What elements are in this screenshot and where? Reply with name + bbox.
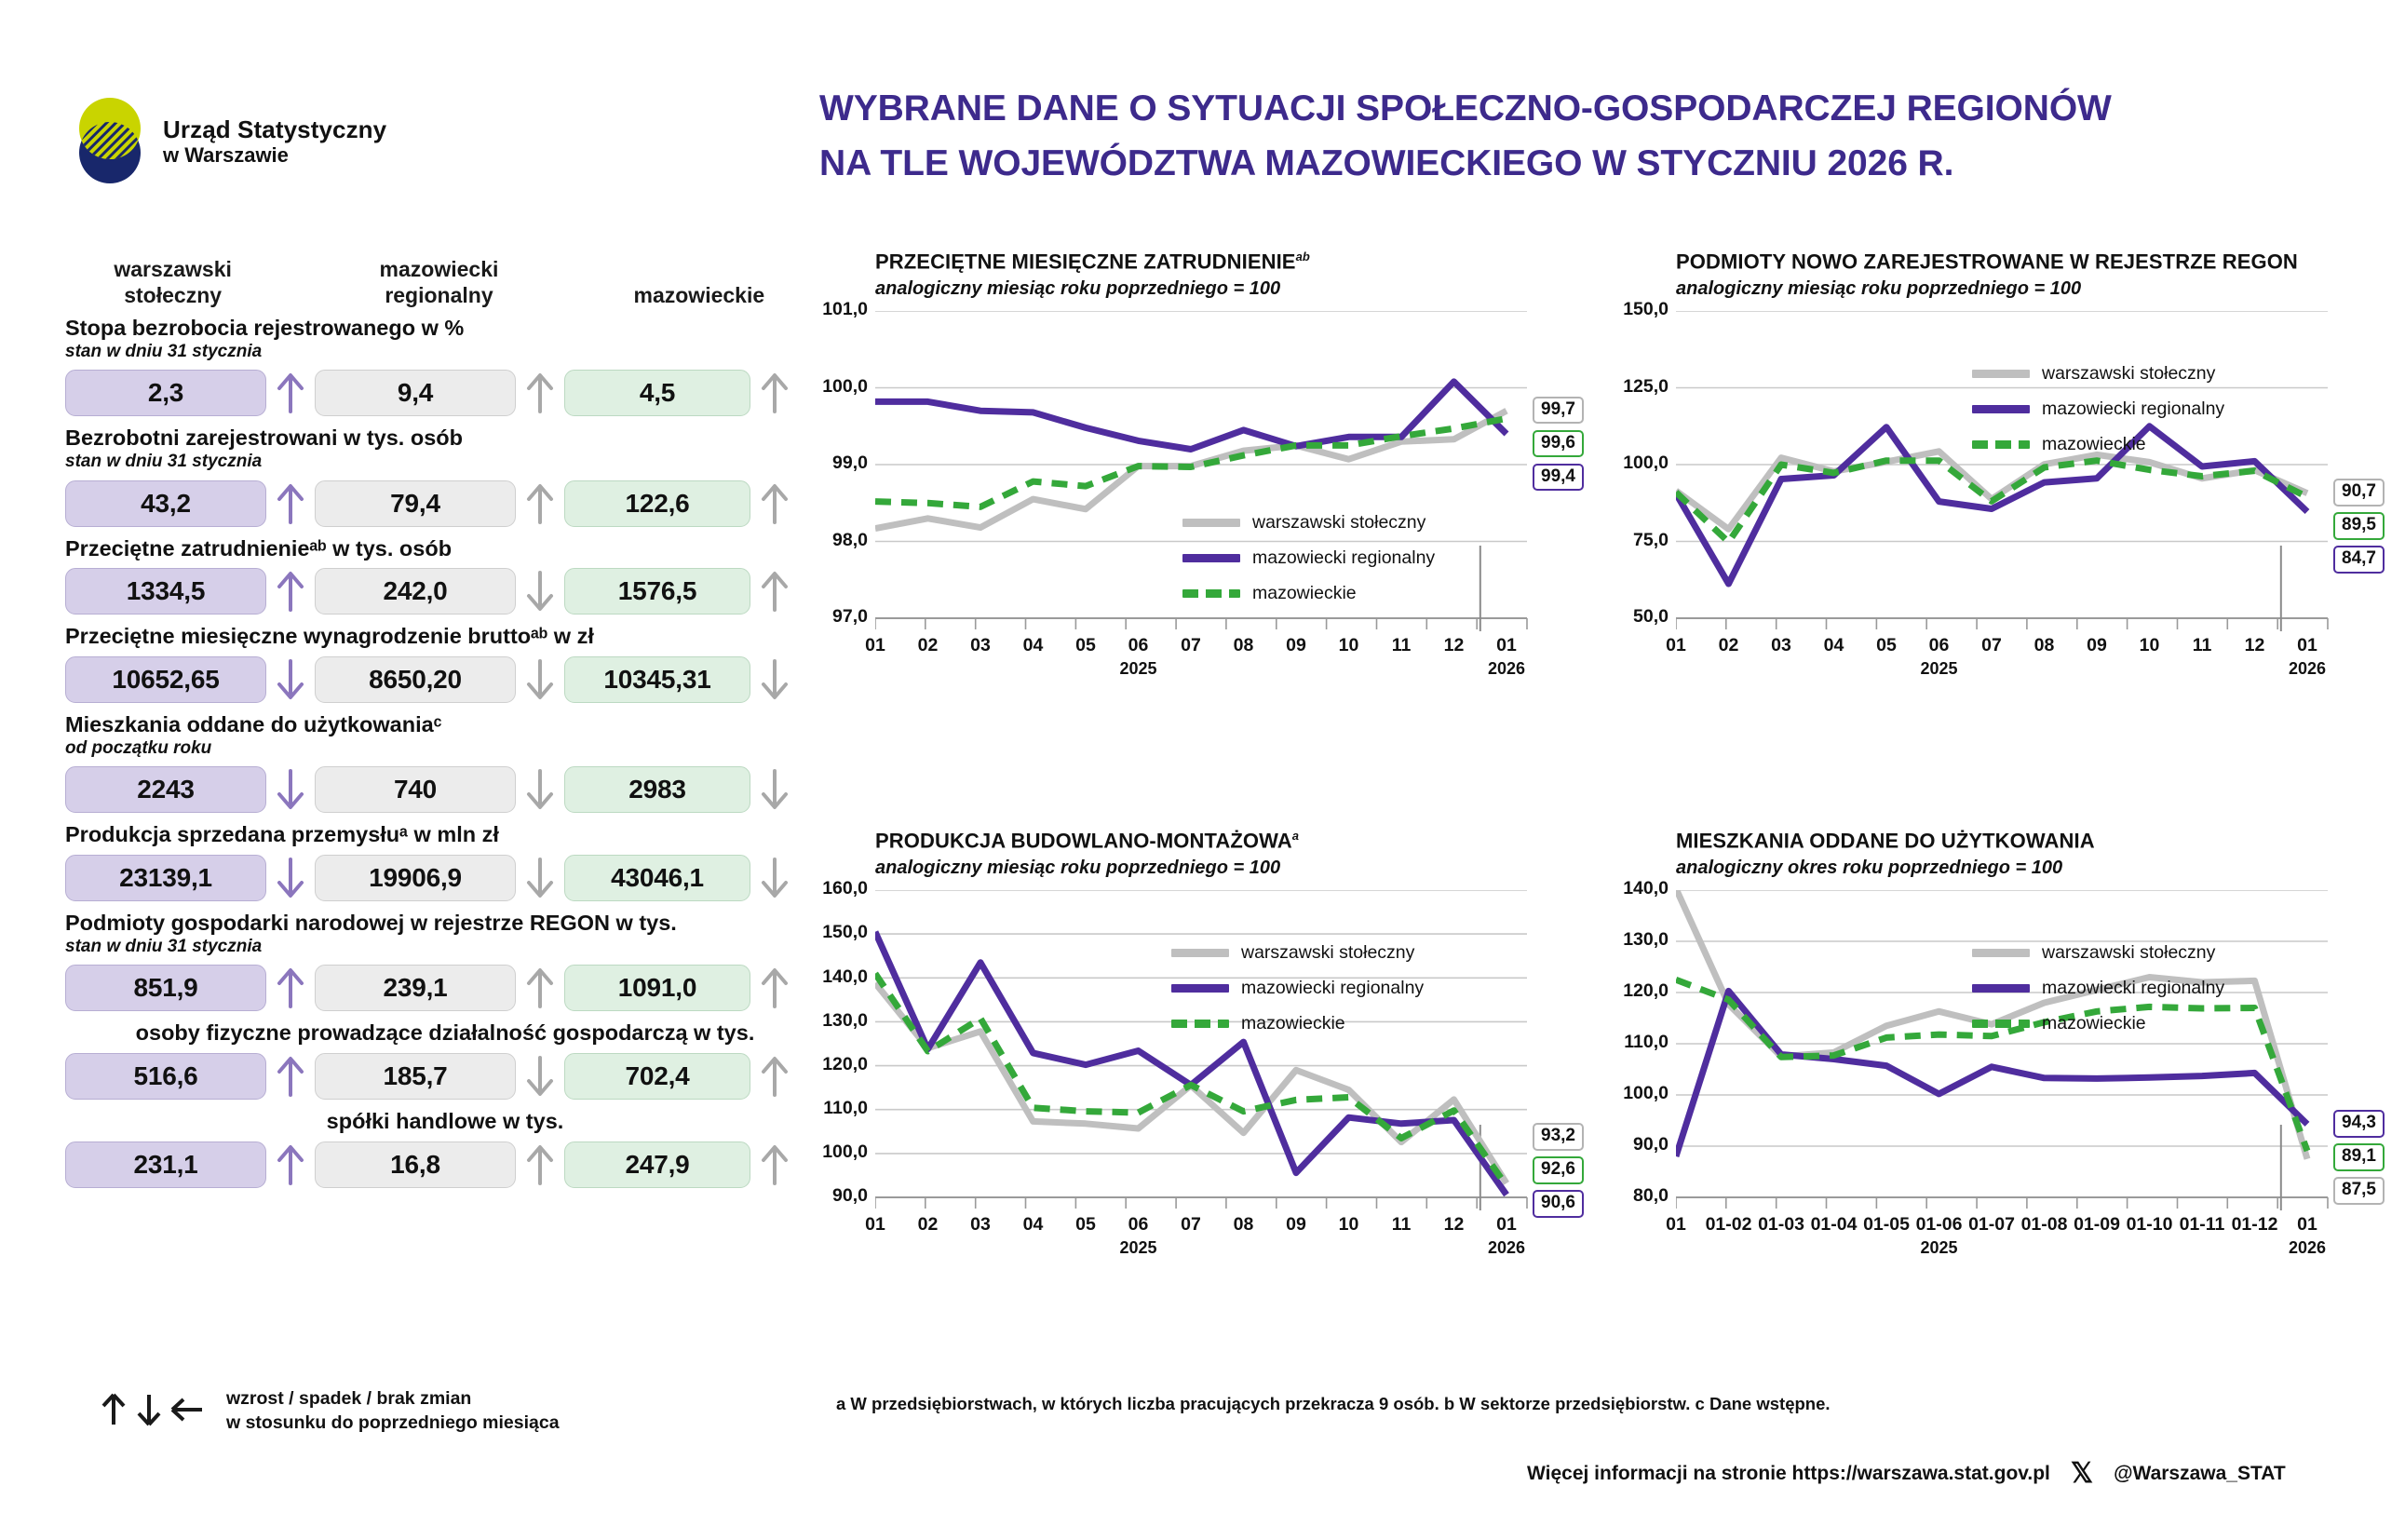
chart-budowlana: PRODUKCJA BUDOWLANO-MONTAŻOWAa analogicz… (875, 829, 1540, 1212)
row-title: Podmioty gospodarki narodowej w rejestrz… (65, 910, 801, 937)
arrow-up-icon (526, 1143, 554, 1186)
row-title: Mieszkania oddane do użytkowaniaᶜ (65, 711, 801, 738)
value-mazowiecki-regionalny: 740 (315, 766, 516, 813)
legend-swatch-violet (1972, 405, 2030, 413)
value-mazowieckie: 122,6 (564, 480, 750, 527)
legend-item: mazowiecki regionalny (1171, 970, 1424, 1006)
table-row: Przeciętne miesięczne wynagrodzenie brut… (65, 623, 801, 703)
chart-regon: PODMIOTY NOWO ZAREJESTROWANE W REJESTRZE… (1676, 250, 2341, 633)
arrow-down-icon (526, 1055, 554, 1098)
arrow-legend: wzrost / spadek / brak zmian w stosunku … (98, 1387, 560, 1435)
legend-label: mazowieckie (2042, 1013, 2146, 1034)
chart-title-superscript: a (1292, 829, 1299, 843)
value-mazowieckie: 1091,0 (564, 965, 750, 1011)
arrow-down-icon (277, 768, 304, 811)
table-row: Stopa bezrobocia rejestrowanego w %stan … (65, 315, 801, 416)
chart-title: PRODUKCJA BUDOWLANO-MONTAŻOWAa (875, 829, 1540, 853)
indicators-table: warszawski stołeczny mazowiecki regional… (65, 242, 801, 1196)
y-axis-tick: 150,0 (790, 922, 868, 943)
y-axis-tick: 140,0 (1590, 878, 1669, 899)
arrow-legend-line-1: wzrost / spadek / brak zmian (226, 1387, 560, 1412)
y-axis-tick: 101,0 (790, 299, 868, 320)
row-title: Przeciętne zatrudnienieᵃᵇ w tys. osób (65, 535, 801, 562)
y-axis-tick: 80,0 (1590, 1185, 1669, 1207)
row-title: Produkcja sprzedana przemysłuᵃ w mln zł (65, 821, 801, 848)
x-axis-tick: 01 (2265, 635, 2349, 656)
legend-swatch-green (1972, 440, 2030, 449)
row-values: 2243 740 2983 (65, 766, 801, 813)
chart-zatrudnienie: PRZECIĘTNE MIESIĘCZNE ZATRUDNIENIEab ana… (875, 250, 1540, 633)
value-mazowiecki-regionalny: 185,7 (315, 1053, 516, 1100)
arrow-up-icon (277, 570, 304, 613)
page-title-line-2: NA TLE WOJEWÓDZTWA MAZOWIECKIEGO W STYCZ… (819, 137, 2365, 192)
arrow-down-icon (526, 658, 554, 701)
value-warszawski: 231,1 (65, 1141, 266, 1188)
row-subtitle: stan w dniu 31 stycznia (65, 451, 801, 474)
series-end-value-label: 92,6 (1533, 1156, 1584, 1184)
row-values: 10652,65 8650,20 10345,31 (65, 656, 801, 703)
legend-item: mazowieckie (1972, 1006, 2224, 1041)
arrow-up-icon (761, 1055, 789, 1098)
arrow-up-icon (761, 570, 789, 613)
x-axis-year-left: 2025 (1902, 1238, 1977, 1258)
y-axis-tick: 120,0 (1590, 980, 1669, 1002)
arrow-up-icon (526, 966, 554, 1009)
y-axis-tick: 90,0 (1590, 1134, 1669, 1155)
trend-arrow-mazowiecki-regionalny (516, 857, 564, 899)
legend-swatch-violet (1972, 984, 2030, 993)
x-axis-year-right: 2026 (2270, 659, 2344, 679)
arrow-up-icon (526, 371, 554, 414)
value-mazowiecki-regionalny: 242,0 (315, 568, 516, 615)
y-axis-tick: 110,0 (790, 1098, 868, 1119)
value-warszawski: 851,9 (65, 965, 266, 1011)
trend-arrow-mazowiecki-regionalny (516, 482, 564, 525)
y-axis-tick: 150,0 (1590, 299, 1669, 320)
row-title: Stopa bezrobocia rejestrowanego w % (65, 315, 801, 342)
series-end-value-label: 87,5 (2333, 1177, 2385, 1205)
arrow-up-icon (761, 482, 789, 525)
y-axis-tick: 100,0 (1590, 1083, 1669, 1104)
legend-item: mazowieckie (1972, 426, 2224, 462)
chart-plot: 80,090,0100,0110,0120,0130,0140,00101-02… (1676, 890, 2341, 1212)
legend-swatch-violet (1182, 554, 1240, 562)
value-warszawski: 23139,1 (65, 855, 266, 901)
x-axis-year-right: 2026 (1469, 1238, 1544, 1258)
column-header-mazowiecki-regionalny: mazowiecki regionalny (335, 256, 542, 310)
chart-title: PRZECIĘTNE MIESIĘCZNE ZATRUDNIENIEab (875, 250, 1540, 274)
value-mazowieckie: 10345,31 (564, 656, 750, 703)
value-mazowiecki-regionalny: 19906,9 (315, 855, 516, 901)
series-end-value-label: 93,2 (1533, 1123, 1584, 1151)
table-row: Podmioty gospodarki narodowej w rejestrz… (65, 910, 801, 1011)
trend-arrow-warszawski (266, 1143, 315, 1186)
chart-title-text: PRZECIĘTNE MIESIĘCZNE ZATRUDNIENIE (875, 250, 1296, 273)
y-axis-tick: 99,0 (790, 453, 868, 474)
table-row: Mieszkania oddane do użytkowaniaᶜod pocz… (65, 711, 801, 813)
series-end-value-label: 99,7 (1533, 397, 1584, 425)
legend-item: mazowiecki regionalny (1182, 540, 1435, 575)
chart-title-superscript: ab (1296, 250, 1310, 263)
table-column-headers: warszawski stołeczny mazowiecki regional… (65, 242, 801, 309)
gus-logo-icon (70, 93, 150, 190)
trend-arrow-mazowiecki-regionalny (516, 966, 564, 1009)
legend-swatch-green (1972, 1020, 2030, 1028)
trend-arrow-mazowiecki-regionalny (516, 1143, 564, 1186)
arrow-down-icon (277, 857, 304, 899)
legend-label: warszawski stołeczny (2042, 942, 2215, 964)
value-mazowiecki-regionalny: 16,8 (315, 1141, 516, 1188)
y-axis-tick: 100,0 (1590, 453, 1669, 474)
arrow-up-icon (277, 1055, 304, 1098)
arrow-down-icon (526, 570, 554, 613)
series-end-value-label: 84,7 (2333, 546, 2385, 574)
trend-arrow-mazowiecki-regionalny (516, 371, 564, 414)
value-mazowieckie: 247,9 (564, 1141, 750, 1188)
trend-arrow-warszawski (266, 1055, 315, 1098)
arrow-up-icon (761, 371, 789, 414)
trend-arrow-mazowieckie (750, 658, 799, 701)
arrow-up-icon (277, 1143, 304, 1186)
column-header-mazowieckie: mazowieckie (598, 282, 801, 309)
series-end-value-label: 99,4 (1533, 464, 1584, 492)
value-mazowiecki-regionalny: 9,4 (315, 370, 516, 416)
row-values: 2,3 9,4 4,5 (65, 370, 801, 416)
y-axis-tick: 100,0 (790, 376, 868, 398)
trend-arrow-mazowiecki-regionalny (516, 1055, 564, 1098)
more-info-link[interactable]: Więcej informacji na stronie https://war… (1527, 1463, 2050, 1485)
value-mazowieckie: 2983 (564, 766, 750, 813)
legend-swatch-grey (1182, 519, 1240, 527)
legend-item: warszawski stołeczny (1972, 935, 2224, 970)
chart-subtitle: analogiczny okres roku poprzedniego = 10… (1676, 858, 2341, 879)
trend-arrow-warszawski (266, 658, 315, 701)
legend-item: mazowieckie (1171, 1006, 1424, 1041)
value-mazowiecki-regionalny: 239,1 (315, 965, 516, 1011)
trend-arrow-mazowiecki-regionalny (516, 570, 564, 613)
legend-item: warszawski stołeczny (1182, 505, 1435, 540)
y-axis-tick: 100,0 (790, 1141, 868, 1163)
legend-swatch-green (1171, 1020, 1229, 1028)
legend-item: mazowiecki regionalny (1972, 391, 2224, 426)
table-row: Bezrobotni zarejestrowani w tys. osóbsta… (65, 425, 801, 526)
legend-label: mazowiecki regionalny (2042, 978, 2224, 999)
series-end-value-label: 94,3 (2333, 1110, 2385, 1138)
table-row: osoby fizyczne prowadzące działalność go… (65, 1020, 801, 1100)
chart-legend: warszawski stołeczny mazowiecki regional… (1171, 935, 1424, 1041)
chart-subtitle: analogiczny miesiąc roku poprzedniego = … (875, 278, 1540, 300)
y-axis-tick: 120,0 (790, 1054, 868, 1075)
legend-swatch-violet (1171, 984, 1229, 993)
y-axis-tick: 110,0 (1590, 1032, 1669, 1053)
value-warszawski: 516,6 (65, 1053, 266, 1100)
value-warszawski: 10652,65 (65, 656, 266, 703)
trend-arrow-warszawski (266, 768, 315, 811)
trend-arrow-warszawski (266, 966, 315, 1009)
legend-label: warszawski stołeczny (1252, 512, 1425, 534)
value-warszawski: 1334,5 (65, 568, 266, 615)
arrow-up-icon (761, 1143, 789, 1186)
arrow-up-icon (98, 1391, 129, 1428)
chart-plot: 90,0100,0110,0120,0130,0140,0150,0160,00… (875, 890, 1540, 1212)
column-header-warszawski: warszawski stołeczny (65, 256, 280, 310)
arrow-up-icon (526, 482, 554, 525)
trend-arrow-warszawski (266, 482, 315, 525)
row-values: 231,1 16,8 247,9 (65, 1141, 801, 1188)
arrow-up-icon (277, 371, 304, 414)
legend-swatch-green (1182, 589, 1240, 598)
legend-item: mazowiecki regionalny (1972, 970, 2224, 1006)
legend-item: warszawski stołeczny (1972, 356, 2224, 391)
value-mazowieckie: 4,5 (564, 370, 750, 416)
trend-arrow-mazowieckie (750, 482, 799, 525)
y-axis-tick: 75,0 (1590, 530, 1669, 551)
logo: Urząd Statystyczny w Warszawie (70, 93, 386, 190)
trend-arrow-mazowiecki-regionalny (516, 768, 564, 811)
arrow-up-icon (277, 966, 304, 1009)
x-axis-year-left: 2025 (1101, 1238, 1176, 1258)
arrow-legend-line-2: w stosunku do poprzedniego miesiąca (226, 1412, 560, 1436)
row-values: 23139,1 19906,9 43046,1 (65, 855, 801, 901)
table-row: Produkcja sprzedana przemysłuᵃ w mln zł … (65, 821, 801, 901)
row-values: 1334,5 242,0 1576,5 (65, 568, 801, 615)
y-axis-tick: 140,0 (790, 966, 868, 988)
chart-plot: 97,098,099,0100,0101,0010203040506070809… (875, 311, 1540, 633)
footnotes: a W przedsiębiorstwach, w których liczba… (836, 1394, 1831, 1414)
chart-subtitle: analogiczny miesiąc roku poprzedniego = … (1676, 278, 2341, 300)
x-logo-icon[interactable]: 𝕏 (2071, 1460, 2093, 1488)
chart-mieszkania: MIESZKANIA ODDANE DO UŻYTKOWANIA analogi… (1676, 829, 2341, 1212)
arrow-down-icon (526, 857, 554, 899)
y-axis-tick: 160,0 (790, 878, 868, 899)
legend-swatch-grey (1171, 949, 1229, 957)
page-title: WYBRANE DANE O SYTUACJI SPOŁECZNO-GOSPOD… (819, 82, 2365, 191)
y-axis-tick: 90,0 (790, 1185, 868, 1207)
trend-arrow-mazowiecki-regionalny (516, 658, 564, 701)
infographic-page: Urząd Statystyczny w Warszawie WYBRANE D… (0, 0, 2405, 1540)
arrow-down-icon (277, 658, 304, 701)
y-axis-tick: 130,0 (1590, 929, 1669, 951)
chart-plot: 50,075,0100,0125,0150,001020304050607080… (1676, 311, 2341, 633)
legend-label: mazowieckie (1241, 1013, 1345, 1034)
series-end-value-label: 90,7 (2333, 479, 2385, 507)
logo-line-2: w Warszawie (163, 143, 386, 167)
y-axis-tick: 97,0 (790, 606, 868, 628)
arrow-down-icon (133, 1391, 165, 1428)
arrow-left-icon (169, 1391, 206, 1428)
legend-swatch-grey (1972, 370, 2030, 378)
footer-bar: Więcej informacji na stronie https://war… (1527, 1460, 2286, 1488)
trend-arrow-warszawski (266, 371, 315, 414)
chart-title-text: MIESZKANIA ODDANE DO UŻYTKOWANIA (1676, 829, 2095, 852)
value-mazowieckie: 43046,1 (564, 855, 750, 901)
value-mazowieckie: 1576,5 (564, 568, 750, 615)
chart-title: MIESZKANIA ODDANE DO UŻYTKOWANIA (1676, 829, 2341, 853)
x-axis-tick: 01 (1465, 635, 1548, 656)
legend-label: warszawski stołeczny (2042, 363, 2215, 385)
legend-label: mazowiecki regionalny (1252, 547, 1435, 569)
y-axis-tick: 125,0 (1590, 376, 1669, 398)
legend-item: mazowieckie (1182, 575, 1435, 611)
table-row: spółki handlowe w tys. 231,1 16,8 247,9 (65, 1108, 801, 1188)
chart-legend: warszawski stołeczny mazowiecki regional… (1972, 935, 2224, 1041)
x-axis-year-right: 2026 (2270, 1238, 2344, 1258)
row-values: 43,2 79,4 122,6 (65, 480, 801, 527)
chart-legend: warszawski stołeczny mazowiecki regional… (1182, 505, 1435, 611)
arrow-down-icon (526, 768, 554, 811)
trend-arrow-warszawski (266, 570, 315, 613)
value-mazowiecki-regionalny: 79,4 (315, 480, 516, 527)
trend-arrow-mazowieckie (750, 768, 799, 811)
value-warszawski: 2243 (65, 766, 266, 813)
x-handle[interactable]: @Warszawa_STAT (2114, 1463, 2286, 1485)
arrow-down-icon (761, 857, 789, 899)
row-subtitle: stan w dniu 31 stycznia (65, 936, 801, 959)
y-axis-tick: 98,0 (790, 530, 868, 551)
arrow-down-icon (761, 658, 789, 701)
row-subtitle: stan w dniu 31 stycznia (65, 341, 801, 364)
x-axis-tick: 01 (2265, 1214, 2349, 1236)
series-end-value-label: 90,6 (1533, 1190, 1584, 1218)
chart-title-text: PRODUKCJA BUDOWLANO-MONTAŻOWA (875, 829, 1292, 852)
row-values: 516,6 185,7 702,4 (65, 1053, 801, 1100)
chart-title-text: PODMIOTY NOWO ZAREJESTROWANE W REJESTRZE… (1676, 250, 2298, 273)
legend-label: mazowieckie (1252, 583, 1357, 604)
chart-title: PODMIOTY NOWO ZAREJESTROWANE W REJESTRZE… (1676, 250, 2341, 274)
logo-line-1: Urząd Statystyczny (163, 116, 386, 144)
table-row: Przeciętne zatrudnienieᵃᵇ w tys. osób 13… (65, 535, 801, 615)
row-title: osoby fizyczne prowadzące działalność go… (65, 1020, 801, 1047)
x-axis-year-right: 2026 (1469, 659, 1544, 679)
trend-arrow-warszawski (266, 857, 315, 899)
value-warszawski: 43,2 (65, 480, 266, 527)
y-axis-tick: 50,0 (1590, 606, 1669, 628)
arrow-up-icon (761, 966, 789, 1009)
row-title: Przeciętne miesięczne wynagrodzenie brut… (65, 623, 801, 650)
chart-subtitle: analogiczny miesiąc roku poprzedniego = … (875, 858, 1540, 879)
value-warszawski: 2,3 (65, 370, 266, 416)
legend-label: mazowiecki regionalny (1241, 978, 1424, 999)
row-title: spółki handlowe w tys. (65, 1108, 801, 1135)
chart-legend: warszawski stołeczny mazowiecki regional… (1972, 356, 2224, 462)
legend-item: warszawski stołeczny (1171, 935, 1424, 970)
arrow-legend-glyphs (98, 1387, 206, 1428)
page-title-line-1: WYBRANE DANE O SYTUACJI SPOŁECZNO-GOSPOD… (819, 82, 2365, 137)
legend-swatch-grey (1972, 949, 2030, 957)
row-title: Bezrobotni zarejestrowani w tys. osób (65, 425, 801, 452)
arrow-down-icon (761, 768, 789, 811)
y-axis-tick: 130,0 (790, 1010, 868, 1032)
value-mazowiecki-regionalny: 8650,20 (315, 656, 516, 703)
x-axis-year-left: 2025 (1101, 659, 1176, 679)
series-end-value-label: 89,5 (2333, 512, 2385, 540)
arrow-legend-text: wzrost / spadek / brak zmian w stosunku … (226, 1387, 560, 1435)
row-subtitle: od początku roku (65, 737, 801, 761)
legend-label: mazowieckie (2042, 434, 2146, 455)
legend-label: warszawski stołeczny (1241, 942, 1414, 964)
series-end-value-label: 99,6 (1533, 430, 1584, 458)
row-values: 851,9 239,1 1091,0 (65, 965, 801, 1011)
legend-label: mazowiecki regionalny (2042, 399, 2224, 420)
arrow-up-icon (277, 482, 304, 525)
value-mazowieckie: 702,4 (564, 1053, 750, 1100)
x-axis-year-left: 2025 (1902, 659, 1977, 679)
series-end-value-label: 89,1 (2333, 1143, 2385, 1171)
